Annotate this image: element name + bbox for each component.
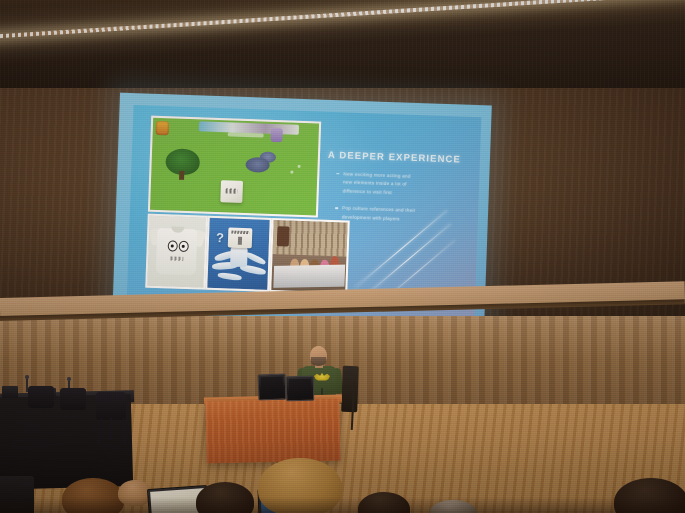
table-microphone-head [67, 377, 71, 381]
slide-bullet-list: New exciting more acting and new element… [334, 170, 448, 234]
chair-leg [110, 418, 112, 440]
event-photo-table [273, 265, 345, 288]
game-npc [270, 128, 282, 142]
foreground-shadow [0, 497, 685, 513]
tshirt-graphic [314, 372, 330, 381]
game-coin-icon [156, 121, 169, 135]
game-tree-trunk [179, 171, 184, 180]
podium-grain [205, 399, 340, 464]
panel-tshirt-photo [145, 214, 208, 290]
panel-mascot-art: ? [205, 216, 272, 292]
slide-bullet-item: New exciting more acting and new element… [336, 170, 449, 199]
table-microphone-head [25, 375, 29, 379]
event-photo-poster [277, 226, 290, 246]
game-character-face [226, 188, 238, 193]
tshirt-body [156, 228, 198, 275]
tshirt-mouth [170, 256, 183, 260]
podium [205, 399, 340, 464]
table-laptop [2, 386, 18, 398]
stage-equipment [341, 366, 359, 413]
stage-chair [28, 386, 54, 408]
game-sparkle [290, 171, 293, 174]
monitor-screen [289, 379, 311, 398]
monitor-screen [261, 377, 284, 398]
mascot-head-text [231, 231, 249, 235]
question-mark-icon: ? [216, 230, 224, 245]
stage-chair [60, 388, 86, 410]
mascot-body [230, 247, 248, 268]
presenter-beard [311, 357, 326, 366]
stage-chair [96, 392, 126, 420]
mascot-box-head [228, 227, 253, 248]
confidence-monitor-2 [286, 376, 314, 401]
game-sparkle [298, 165, 301, 168]
conference-photo-scene: ? A DEEPER EXPERIENCE New exciting more … [0, 0, 685, 513]
panel-game-screenshot [148, 116, 321, 218]
confidence-monitor-1 [258, 374, 287, 401]
slide-bullet-item: Pop culture references and their develop… [335, 205, 448, 226]
mascot-head-mark [238, 237, 242, 245]
game-box-character [220, 180, 243, 203]
